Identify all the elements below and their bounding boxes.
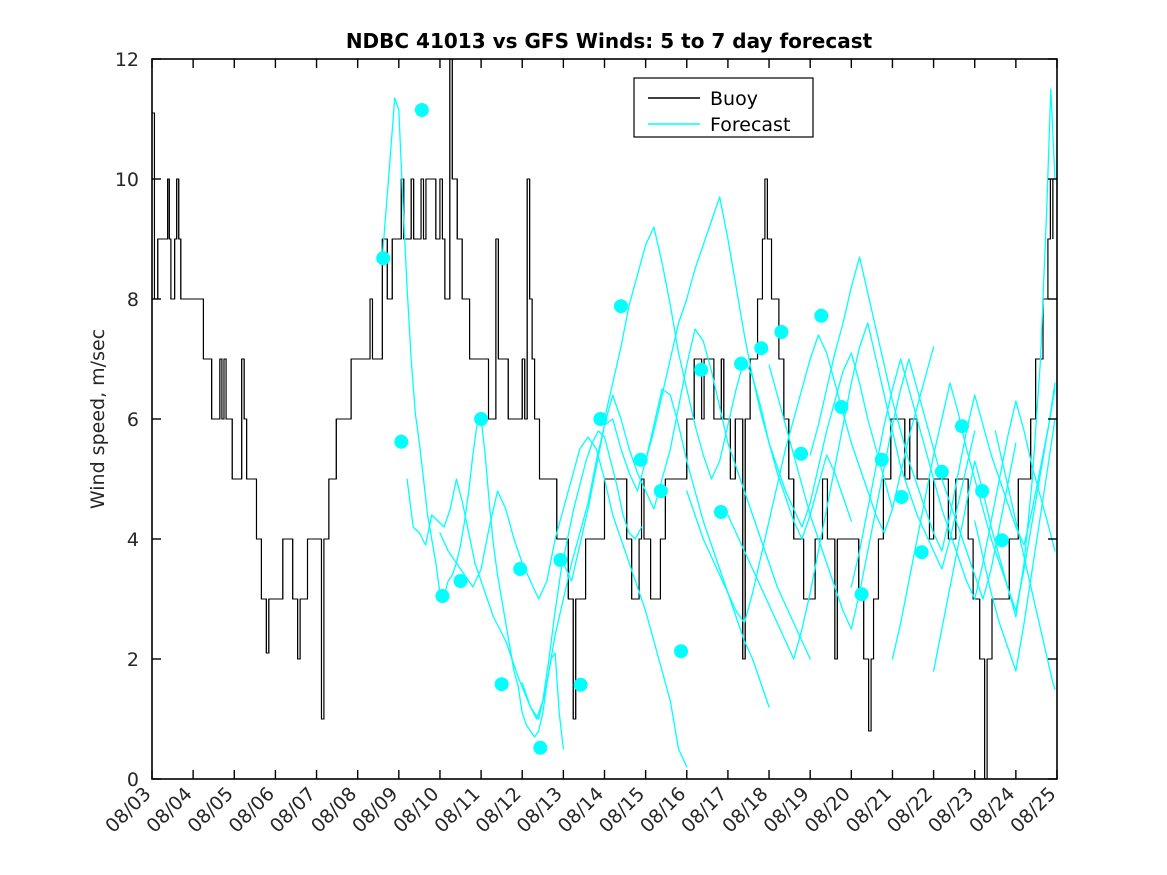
legend-label-forecast: Forecast	[710, 114, 790, 136]
forecast-marker-8	[533, 741, 547, 755]
forecast-marker-7	[513, 562, 527, 576]
forecast-marker-21	[794, 447, 808, 461]
forecast-marker-24	[855, 587, 869, 601]
forecast-marker-11	[593, 412, 607, 426]
forecast-marker-0	[376, 251, 390, 265]
forecast-marker-15	[674, 644, 688, 658]
forecast-marker-16	[694, 363, 708, 377]
forecast-marker-9	[553, 553, 567, 567]
forecast-marker-17	[714, 505, 728, 519]
forecast-marker-20	[774, 325, 788, 339]
chart-legend[interactable]: Buoy Forecast	[634, 78, 813, 137]
y-tick-label: 6	[127, 409, 139, 431]
forecast-marker-2	[415, 103, 429, 117]
forecast-marker-1	[394, 435, 408, 449]
y-tick-label: 8	[127, 289, 139, 311]
forecast-marker-31	[995, 533, 1009, 547]
forecast-marker-27	[915, 545, 929, 559]
forecast-marker-26	[895, 490, 909, 504]
y-tick-label: 12	[115, 49, 139, 71]
forecast-marker-6	[495, 677, 509, 691]
forecast-marker-30	[975, 484, 989, 498]
y-tick-label: 2	[127, 649, 139, 671]
forecast-marker-23	[834, 400, 848, 414]
chart-figure: NDBC 41013 vs GFS Winds: 5 to 7 day fore…	[0, 0, 1167, 875]
forecast-marker-14	[654, 484, 668, 498]
forecast-marker-5	[474, 412, 488, 426]
legend-label-buoy: Buoy	[710, 88, 758, 110]
forecast-marker-28	[935, 465, 949, 479]
forecast-marker-29	[955, 419, 969, 433]
forecast-marker-18	[734, 357, 748, 371]
forecast-marker-12	[614, 299, 628, 313]
forecast-marker-22	[814, 309, 828, 323]
forecast-marker-19	[754, 341, 768, 355]
y-tick-label: 4	[127, 529, 139, 551]
forecast-marker-3	[435, 589, 449, 603]
chart-title: NDBC 41013 vs GFS Winds: 5 to 7 day fore…	[346, 29, 873, 53]
y-tick-label: 10	[115, 169, 139, 191]
forecast-marker-25	[875, 453, 889, 467]
forecast-marker-13	[634, 453, 648, 467]
wind-speed-chart: NDBC 41013 vs GFS Winds: 5 to 7 day fore…	[0, 0, 1167, 875]
y-axis-label: Wind speed, m/sec	[87, 329, 109, 509]
forecast-marker-4	[454, 574, 468, 588]
forecast-marker-10	[574, 678, 588, 692]
